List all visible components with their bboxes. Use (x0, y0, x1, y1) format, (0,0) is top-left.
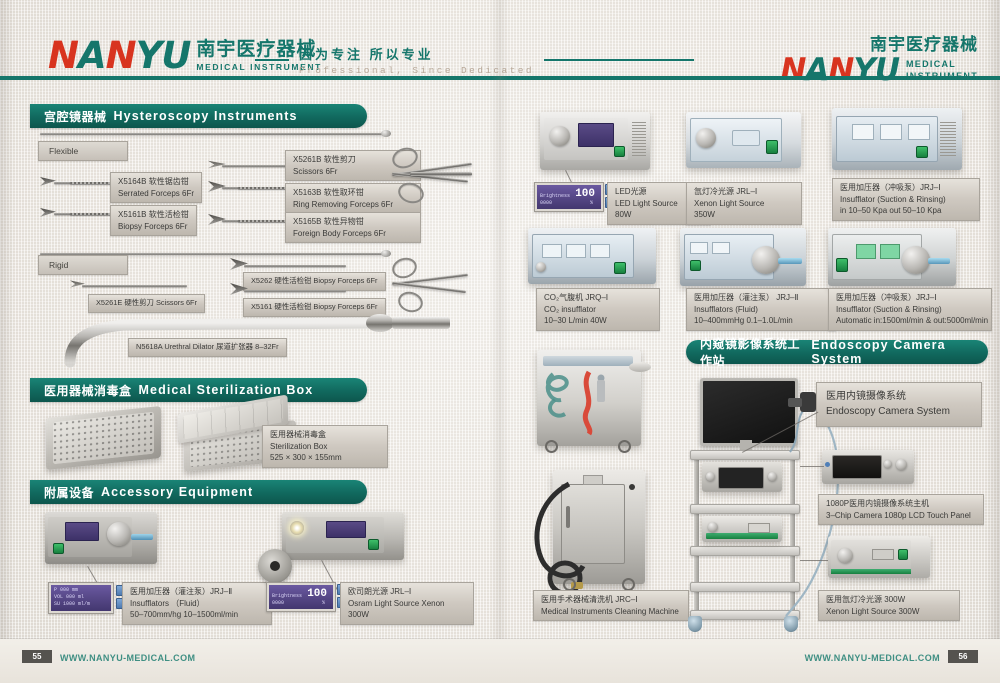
label-x5262-line: X5262 硬性活检钳 Biopsy Forceps 6Fr (251, 276, 378, 287)
device-insufflator-suction-2 (828, 228, 956, 286)
group-label-rigid: Rigid (38, 255, 128, 275)
label-r2-2-en: Insufflator (Suction & Rinsing) (836, 304, 984, 316)
label-r1-1-spec: 350W (694, 209, 794, 221)
label-xenon-light-source: 氙灯冷光源 JRL–Ⅰ Xenon Light Source 350W (686, 182, 802, 225)
inset2-row1: P 000 mm (54, 587, 78, 593)
inset-sublabel: 0000 (272, 600, 284, 606)
section-banner-sterilization: 医用器械消毒盒 Medical Sterilization Box (30, 378, 367, 402)
brand-sub-right-1: MEDICAL (906, 59, 978, 70)
label-x5164b-cn: X5164B 软性锯齿钳 (118, 176, 194, 188)
camera-title-cn: 医用内镜摄像系统 (826, 390, 972, 405)
trolley-camera-unit (702, 462, 782, 492)
section-banner-camera-system: 内窥镜影像系统工作站 Endoscopy Camera System (686, 340, 988, 364)
slogan-en: Professional, Since Dedicated (299, 65, 534, 76)
catalog-page: NANYU 南宇医疗器械 MEDICAL INSTRUMENT 因为专注 所以专… (0, 0, 1000, 683)
group-label-flexible: Flexible (38, 141, 128, 161)
label-sterilization-box: 医用器械消毒盒 Sterilization Box 525 × 300 × 15… (262, 425, 388, 468)
section-accessory-en: Accessory Equipment (101, 485, 253, 499)
trolley-light-source (702, 516, 782, 542)
label-sterilization-cn: 医用器械消毒盒 (270, 429, 380, 441)
section-hysteroscopy-cn: 宫腔镜器械 (44, 108, 107, 125)
inset-value: 100 (307, 588, 327, 600)
label-acc0-en: Insufflators （Fluid） (130, 598, 264, 610)
label-r2-2-cn: 医用加压器（冲吸泵）JRJ–Ⅰ (836, 292, 984, 304)
footer-divider (0, 638, 1000, 639)
label-n5618a-line: N5618A Urethral Dilator 尿道扩张器 8–32Fr (136, 342, 279, 353)
website-url-right[interactable]: WWW.NANYU-MEDICAL.COM (805, 653, 940, 663)
label-r1-2-spec: in 10–50 Kpa out 50–10 Kpa (840, 205, 972, 217)
label-x5165b-en: Foreign Body Forceps 6Fr (293, 228, 413, 240)
label-xenon300-cn: 医用氙灯冷光源 300W (826, 594, 952, 606)
label-r2-1-cn: 医用加压器（灌注泵） JRJ–Ⅱ (694, 292, 828, 304)
flexible-scope-shaft (40, 133, 385, 135)
label-r2-0-spec: 10–30 L/min 40W (544, 315, 652, 327)
device-osram-light-source (282, 512, 404, 560)
sterilization-box-closed (46, 406, 161, 470)
label-x5165b: X5165B 软性异物钳 Foreign Body Forceps 6Fr (285, 212, 421, 243)
label-cleaning-cn: 医用手术器械清洗机 JRC–Ⅰ (541, 594, 681, 606)
section-camera-cn: 内窥镜影像系统工作站 (700, 335, 804, 369)
label-r2-1-spec: 10–400mmHg 0.1–1.0L/min (694, 315, 828, 327)
label-1080p-cn: 1080P医用内镜摄像系统主机 (826, 498, 976, 510)
label-x5164b-en: Serrated Forceps 6Fr (118, 188, 194, 200)
label-xenon300-en: Xenon Light Source 300W (826, 606, 952, 618)
inset-lcd-led: Brightness 100 0000 % (534, 182, 604, 212)
label-x5161b-cn: X5161B 软性活检钳 (118, 209, 189, 221)
label-r1-2-en: Insufflator (Suction & Rinsing) (840, 194, 972, 206)
page-edge-right (986, 0, 1000, 683)
label-cleaning-machine: 医用手术器械清洗机 JRC–Ⅰ Medical Instruments Clea… (533, 590, 689, 621)
website-url-left[interactable]: WWW.NANYU-MEDICAL.COM (60, 653, 195, 663)
label-sterilization-en: Sterilization Box (270, 441, 380, 453)
device-cleaning-machine-main (553, 470, 645, 584)
label-sterilization-size: 525 × 300 × 155mm (270, 452, 380, 464)
label-r2-0-en: CO₂ insufflator (544, 304, 652, 316)
inset2-row3: SU 1000 ml/m (54, 601, 90, 607)
inset-lcd-insufflator: P 000 mm VOL 000 ml SU 1000 ml/m (48, 582, 114, 614)
slogan-block: 因为专注 所以专业 Professional, Since Dedicated (255, 44, 694, 76)
inset-led-sublabel: 0000 (540, 200, 552, 206)
label-osram-light: 欧司朗光源 JRL–Ⅰ Osram Light Source Xenon 300… (340, 582, 474, 625)
label-r1-1-cn: 氙灯冷光源 JRL–Ⅰ (694, 186, 794, 198)
label-x5161b-en: Biopsy Forceps 6Fr (118, 221, 189, 233)
label-cleaning-en: Medical Instruments Cleaning Machine (541, 606, 681, 618)
label-insufflator-suction-3: 医用加压器（冲吸泵）JRJ–Ⅰ Insufflator (Suction & R… (828, 288, 992, 331)
inset-led-label: Brightness (540, 193, 570, 199)
device-1080p-camera-unit (822, 450, 914, 484)
label-x5161b: X5161B 软性活检钳 Biopsy Forceps 6Fr (110, 205, 197, 236)
label-x5163b-cn: X5163B 软性取环钳 (293, 187, 413, 199)
device-insufflator-fluid (45, 512, 157, 564)
label-r1-1-en: Xenon Light Source (694, 198, 794, 210)
label-1080p-en: 3–Chip Camera 1080p LCD Touch Panel (826, 510, 976, 522)
inset-lcd-osram: Brightness 100 0000 % (266, 582, 336, 612)
label-insufflator-fluid-jrj2: 医用加压器（灌注泵） JRJ–Ⅱ Insufflators (Fluid) 10… (686, 288, 836, 331)
device-cleaning-machine-top (537, 350, 641, 446)
label-insufflator-fluid: 医用加压器（灌注泵）JRJ–Ⅱ Insufflators （Fluid） 50–… (122, 582, 272, 625)
label-co2-insufflator: CO₂气腹机 JRQ–Ⅰ CO₂ insufflator 10–30 L/min… (536, 288, 660, 331)
label-x5261e-line: X5261E 硬性剪刀 Scissors 6Fr (96, 298, 197, 309)
slogan-cn: 因为专注 所以专业 (299, 47, 434, 62)
device-insufflator-suction-rinsing (832, 108, 962, 170)
label-xenon-300w: 医用氙灯冷光源 300W Xenon Light Source 300W (818, 590, 960, 621)
label-r2-0-cn: CO₂气腹机 JRQ–Ⅰ (544, 292, 652, 304)
device-led-light-source (540, 112, 650, 170)
rigid-scope-tip (381, 250, 391, 257)
inset-label: Brightness (272, 593, 302, 599)
section-sterilization-cn: 医用器械消毒盒 (44, 382, 132, 399)
section-accessory-cn: 附属设备 (44, 484, 94, 501)
device-xenon-light-source (686, 112, 801, 168)
inset-led-value: 100 (575, 188, 595, 200)
section-banner-hysteroscopy: 宫腔镜器械 Hysteroscopy Instruments (30, 104, 367, 128)
brand-wordmark: NANYU (48, 37, 190, 74)
page-gutter (491, 0, 509, 683)
leader-line-xenon-300w (800, 560, 828, 561)
label-r2-1-en: Insufflators (Fluid) (694, 304, 828, 316)
inset2-row2: VOL 000 ml (54, 594, 84, 600)
section-sterilization-en: Medical Sterilization Box (139, 383, 314, 397)
device-xenon-300w (828, 536, 930, 578)
slogan-rule-right (544, 59, 694, 61)
header-rule (0, 76, 1000, 80)
inset-led-unit: % (590, 200, 593, 206)
label-r2-2-spec: Automatic in:1500ml/min & out:5000ml/min (836, 315, 984, 327)
label-acc1-en: Osram Light Source Xenon (348, 598, 466, 610)
label-n5618a: N5618A Urethral Dilator 尿道扩张器 8–32Fr (128, 338, 287, 357)
label-acc1-spec: 300W (348, 609, 466, 621)
leader-line-1080p (800, 466, 824, 467)
label-1080p-camera: 1080P医用内镜摄像系统主机 3–Chip Camera 1080p LCD … (818, 494, 984, 525)
label-x5164b: X5164B 软性锯齿钳 Serrated Forceps 6Fr (110, 172, 202, 203)
section-camera-en: Endoscopy Camera System (811, 338, 970, 366)
section-banner-accessory: 附属设备 Accessory Equipment (30, 480, 367, 504)
page-number-left: 55 (22, 650, 52, 663)
slogan-rule-left (255, 59, 289, 61)
inset-unit: % (322, 600, 325, 606)
label-acc1-cn: 欧司朗光源 JRL–Ⅰ (348, 586, 466, 598)
page-number-right: 56 (948, 650, 978, 663)
label-r1-2-cn: 医用加压器（冲吸泵）JRJ–Ⅰ (840, 182, 972, 194)
page-edge-left (0, 0, 14, 683)
light-guide-adapter (258, 549, 292, 583)
label-camera-system-title: 医用内镜摄像系统 Endoscopy Camera System (816, 382, 982, 427)
label-insufflator-suction-1: 医用加压器（冲吸泵）JRJ–Ⅰ Insufflator (Suction & R… (832, 178, 980, 221)
section-hysteroscopy-en: Hysteroscopy Instruments (114, 109, 298, 123)
device-co2-insufflator (528, 228, 656, 284)
label-acc0-cn: 医用加压器（灌注泵）JRJ–Ⅱ (130, 586, 264, 598)
label-acc0-spec: 50–700mm/hg 10–1500ml/min (130, 609, 264, 621)
label-x5165b-cn: X5165B 软性异物钳 (293, 216, 413, 228)
device-insufflator-fluid-jrj2 (680, 228, 806, 286)
label-x5262: X5262 硬性活检钳 Biopsy Forceps 6Fr (243, 272, 386, 291)
camera-title-en: Endoscopy Camera System (826, 405, 972, 420)
page-header: NANYU 南宇医疗器械 MEDICAL INSTRUMENT 因为专注 所以专… (0, 0, 1000, 82)
label-x5163b-en: Ring Removing Forceps 6Fr (293, 199, 413, 211)
brand-wordmark-right: NANYU (780, 55, 899, 86)
flexible-scope-tip (381, 130, 391, 137)
